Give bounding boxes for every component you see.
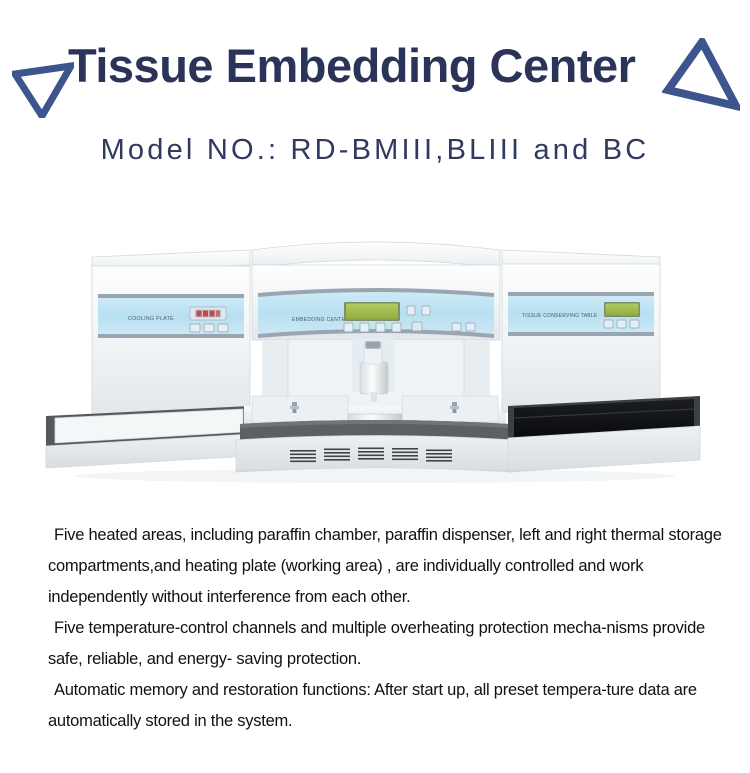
embedding-center-mode-button[interactable]	[412, 322, 422, 331]
triangle-down-icon	[12, 60, 74, 118]
description-paragraph: Automatic memory and restoration functio…	[0, 675, 750, 737]
tissue-conserving-table-display	[604, 302, 640, 317]
tissue-conserving-table-buttons[interactable]	[604, 320, 639, 328]
triangle-up-icon	[662, 38, 740, 112]
conserving-tray	[508, 396, 700, 472]
embedding-center-display	[344, 302, 400, 321]
module-embedding-center: EMBEDDING CENTER	[236, 242, 514, 472]
title-row: Tissue Embedding Center	[0, 32, 750, 112]
base-housing	[236, 436, 514, 473]
page-header: Tissue Embedding Center Model NO.: RD-BM…	[0, 0, 750, 195]
description-paragraph: Five heated areas, including paraffin ch…	[0, 520, 750, 613]
description-block: Five heated areas, including paraffin ch…	[0, 520, 750, 737]
product-image: COOLING PLATE	[0, 210, 750, 500]
cooling-plate-display	[190, 307, 226, 320]
module-tissue-conserving-table: TISSUE CONSERVING TABLE	[502, 250, 700, 472]
embedding-center-panel-label: EMBEDDING CENTER	[292, 317, 349, 323]
description-paragraph: Five temperature-control channels and mu…	[0, 613, 750, 675]
cooling-plate-deck	[46, 406, 250, 468]
cooling-plate-buttons[interactable]	[190, 324, 228, 332]
cooling-plate-panel-label: COOLING PLATE	[128, 316, 174, 322]
tissue-conserving-table-panel-label: TISSUE CONSERVING TABLE	[522, 313, 598, 319]
machine-shadow	[75, 469, 675, 483]
page-title: Tissue Embedding Center	[68, 28, 668, 104]
embedding-center-machine: COOLING PLATE	[0, 210, 750, 500]
model-number-subtitle: Model NO.: RD-BMIII,BLIII and BC	[0, 134, 750, 167]
module-cooling-plate: COOLING PLATE	[46, 250, 250, 468]
